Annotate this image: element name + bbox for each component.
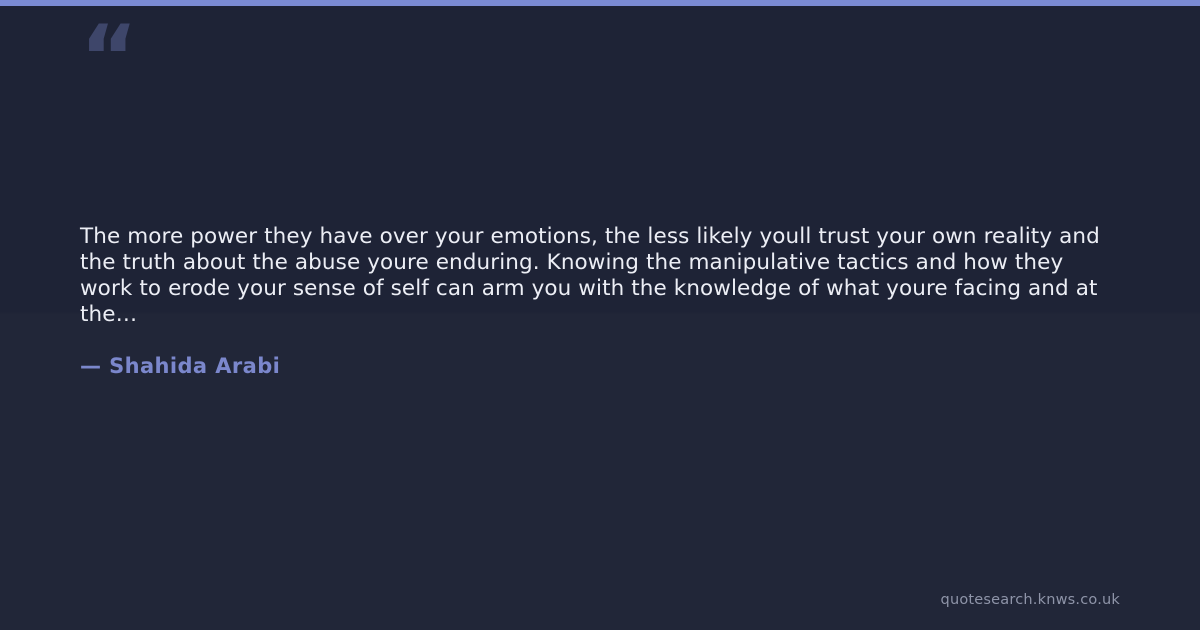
top-accent-bar (0, 0, 1200, 6)
quote-author: — Shahida Arabi (80, 354, 280, 378)
opening-quote-mark-icon: “ (80, 14, 136, 102)
source-site-label: quotesearch.knws.co.uk (941, 592, 1120, 608)
quote-card: “ The more power they have over your emo… (0, 0, 1200, 630)
quote-text: The more power they have over your emoti… (80, 224, 1120, 328)
